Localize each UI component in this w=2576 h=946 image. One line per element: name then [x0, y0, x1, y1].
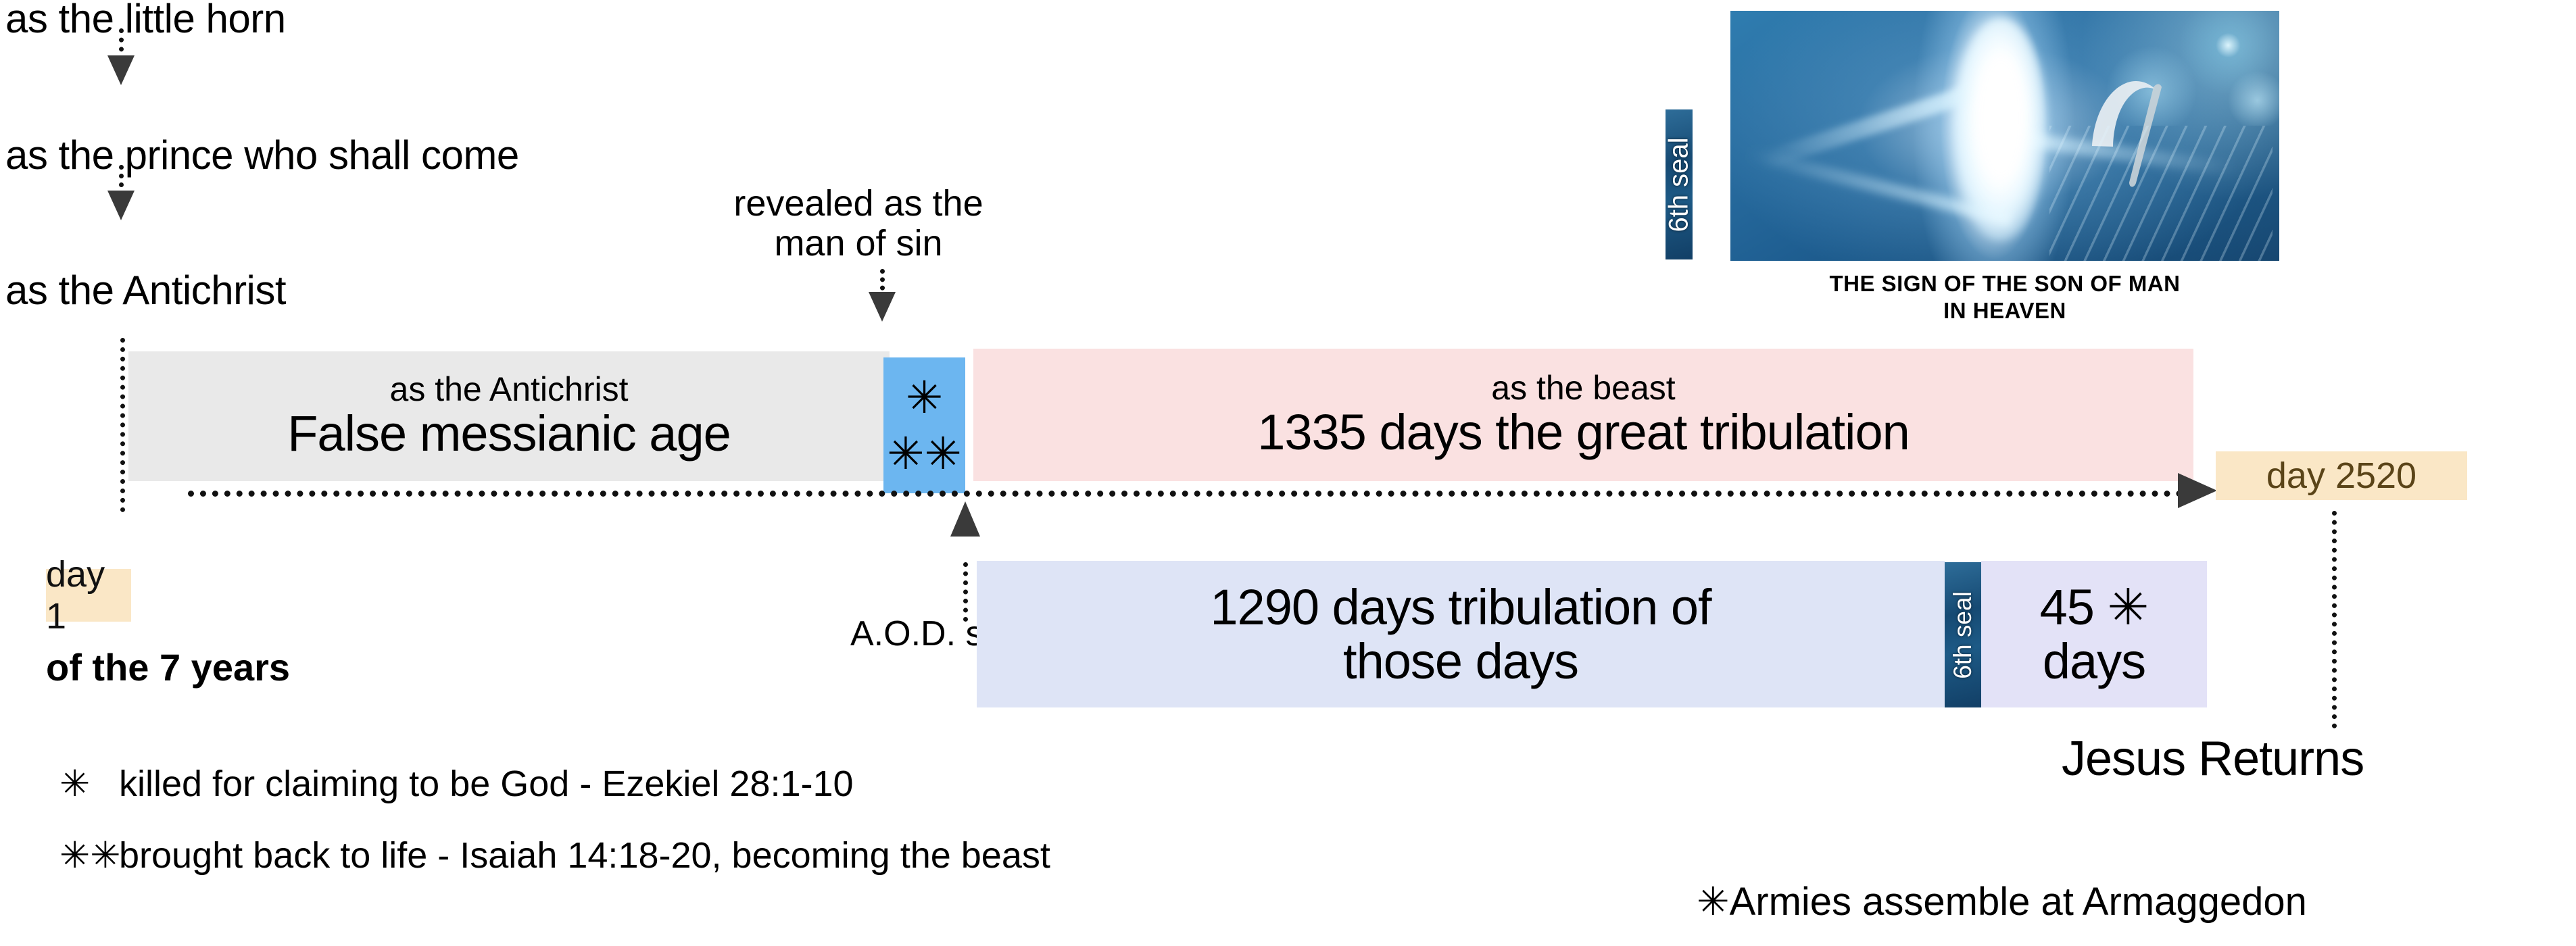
- bar-1290-days-tribulation[interactable]: 1290 days tribulation of those days: [977, 561, 1945, 707]
- bar-45-days[interactable]: 45 ✳ days: [1981, 561, 2207, 707]
- footnote-1: ✳killed for claiming to be God - Ezekiel…: [59, 762, 854, 805]
- callout-line-1: revealed as the: [679, 184, 1038, 224]
- sign-of-the-son-of-man-image: [1730, 11, 2279, 261]
- bar-lav-line-1: 1290 days tribulation of: [1210, 580, 1711, 634]
- badge-day-2520: day 2520: [2216, 451, 2467, 500]
- label-prince-who-shall-come: as the prince who shall come: [5, 135, 519, 176]
- bar-revealed-marker[interactable]: ✳ ✳✳: [883, 357, 965, 493]
- label-jesus-returns: Jesus Returns: [2062, 731, 2364, 787]
- chain-arrow-1: [107, 55, 135, 85]
- badge-day-1: day 1: [46, 569, 131, 622]
- callout-revealed-man-of-sin: revealed as the man of sin: [679, 184, 1038, 264]
- footnote-1-mark: ✳: [59, 762, 119, 805]
- footnote-2-text: brought back to life - Isaiah 14:18-20, …: [119, 835, 1050, 876]
- bar-lav-line-2: those days: [1343, 634, 1578, 689]
- bar-pink-top-label: as the beast: [1491, 370, 1675, 406]
- label-of-the-7-years: of the 7 years: [46, 645, 290, 689]
- footnote-2: ✳✳brought back to life - Isaiah 14:18-20…: [59, 834, 1050, 876]
- timeline-end-arrow: [2178, 473, 2217, 508]
- hero-meteor-streaks: [2049, 126, 2273, 261]
- label-little-horn: as the little horn: [5, 0, 286, 39]
- label-antichrist: as the Antichrist: [5, 270, 286, 311]
- bar-gray-top-label: as the Antichrist: [390, 372, 629, 407]
- bar-great-tribulation[interactable]: as the beast 1335 days the great tribula…: [973, 349, 2193, 481]
- hero-caption: THE SIGN OF THE SON OF MAN IN HEAVEN: [1730, 270, 2279, 325]
- hero-light-burst: [1953, 18, 2048, 241]
- aod-arrow: [950, 501, 980, 537]
- hero-6th-seal-label: 6th seal: [1666, 137, 1693, 232]
- hero-caption-line-2: IN HEAVEN: [1730, 297, 2279, 324]
- callout-arrow: [869, 292, 896, 322]
- bar-blue-mark-one: ✳: [906, 370, 943, 426]
- footnote-1-text: killed for claiming to be God - Ezekiel …: [119, 764, 854, 804]
- jesus-returns-dotted-line: [2332, 511, 2337, 728]
- bar-45-days-line-2: days: [2043, 634, 2145, 689]
- timeline-dotted-track: [188, 491, 2195, 497]
- chain-arrow-2: [107, 191, 135, 220]
- label-armies-armaggedon: ✳Armies assemble at Armaggedon: [1697, 878, 2307, 924]
- bar-45-days-line-1: 45 ✳: [2040, 580, 2149, 634]
- callout-line-2: man of sin: [679, 224, 1038, 264]
- hero-caption-line-1: THE SIGN OF THE SON OF MAN: [1730, 270, 2279, 297]
- bar-pink-main-label: 1335 days the great tribulation: [1257, 405, 1910, 459]
- aod-dotted-line: [963, 562, 968, 622]
- lower-track-6th-seal-label: 6th seal: [1949, 591, 1977, 679]
- lower-track-6th-seal-tab: 6th seal: [1945, 562, 1981, 707]
- footnote-2-mark: ✳✳: [59, 834, 119, 876]
- bar-blue-mark-two: ✳✳: [887, 426, 962, 482]
- bar-false-messianic-age[interactable]: as the Antichrist False messianic age: [128, 351, 890, 481]
- hero-6th-seal-tab: 6th seal: [1666, 109, 1693, 259]
- timeline-start-marker-line: [120, 338, 125, 512]
- bar-gray-main-label: False messianic age: [287, 407, 731, 461]
